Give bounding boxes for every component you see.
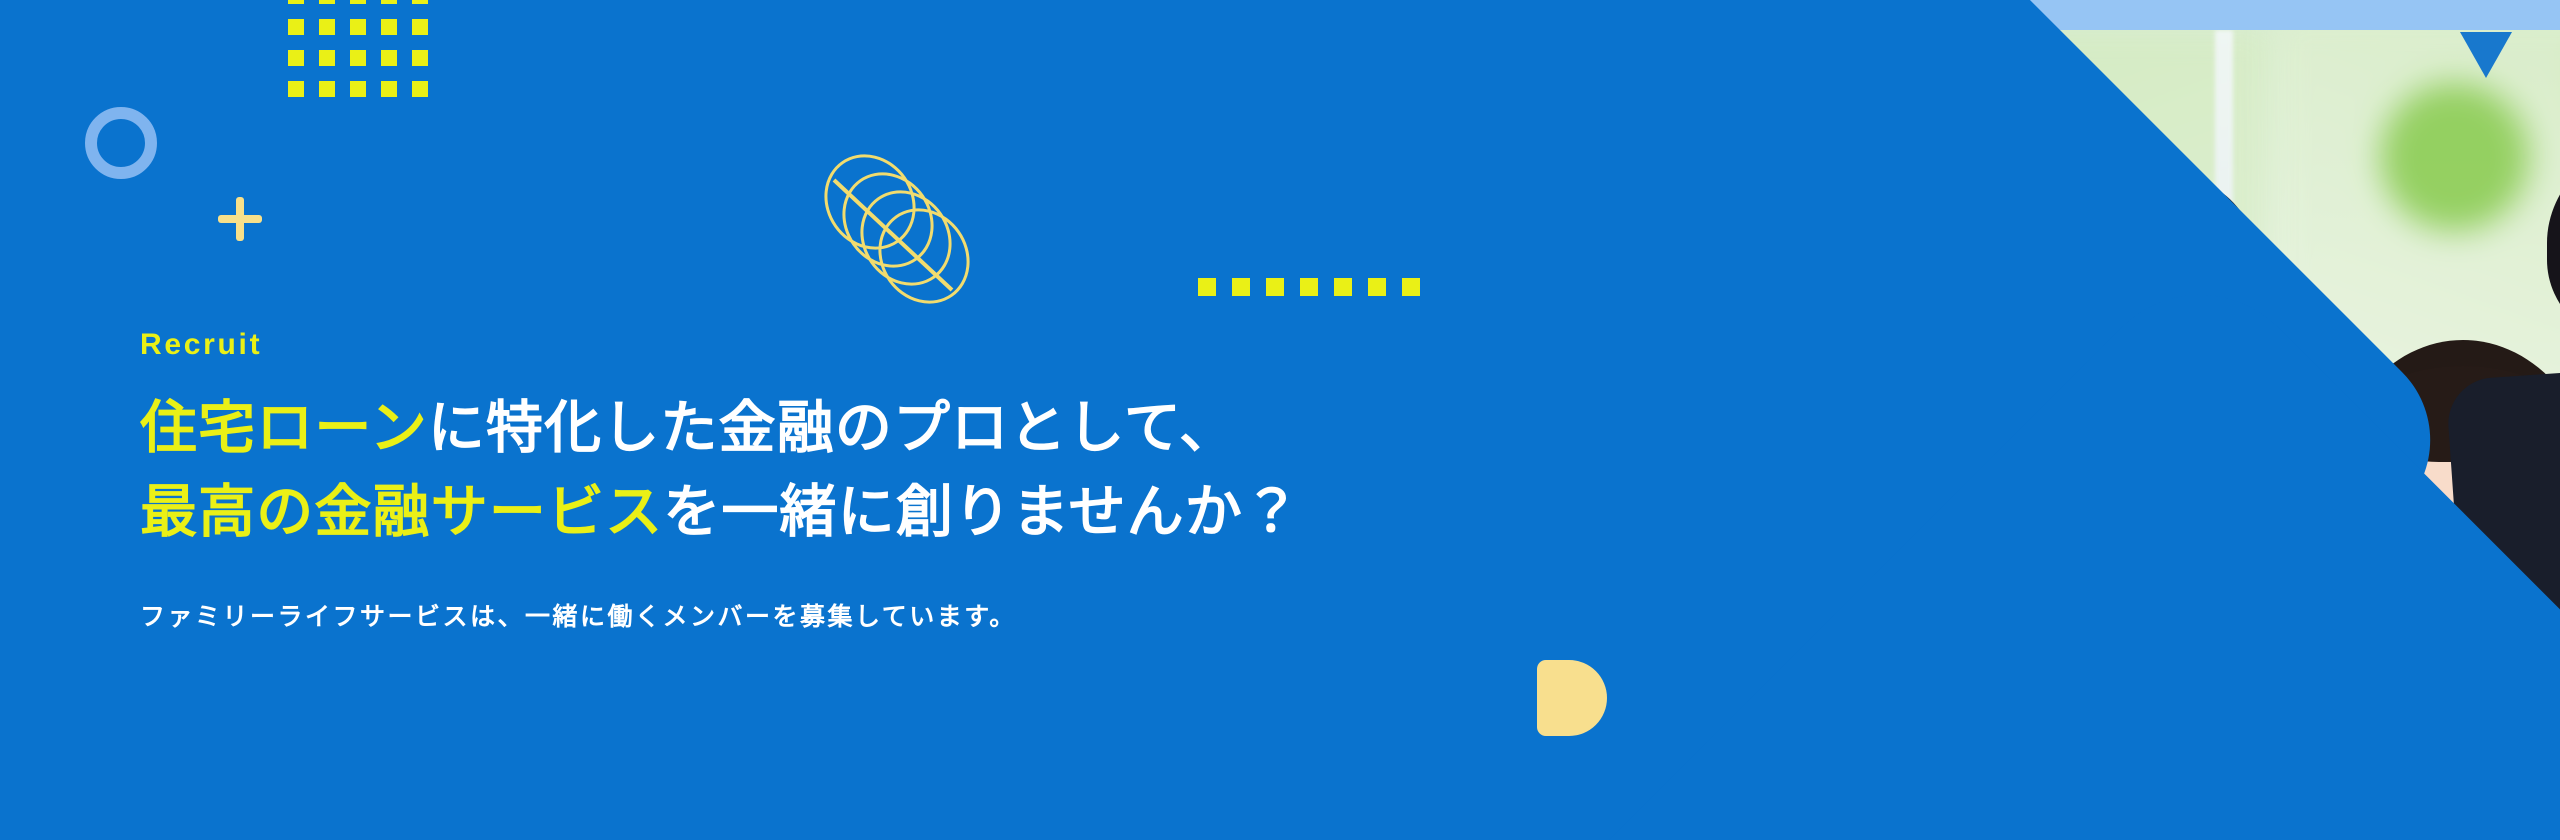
headline-rest-2: を一緒に創りませんか？	[663, 480, 1301, 544]
headline-highlight-1: 住宅ローン	[140, 396, 428, 460]
spiral-rings-icon	[800, 140, 1000, 330]
square-row-icon	[1198, 278, 1420, 296]
headline-line-2: 最高の金融サービスを一緒に創りませんか？	[140, 470, 1340, 554]
hero-copy: Recruit 住宅ローンに特化した金融のプロとして、 最高の金融サービスを一緒…	[140, 330, 1340, 636]
triangle-badge-icon	[2460, 32, 2512, 78]
circle-outline-icon	[85, 107, 157, 179]
lede-text: ファミリーライフサービスは、一緒に働くメンバーを募集しています。	[140, 599, 1340, 637]
headline-highlight-2: 最高の金融サービス	[140, 480, 663, 544]
headline-line-1: 住宅ローンに特化した金融のプロとして、	[140, 386, 1340, 470]
headline-rest-1: に特化した金融のプロとして、	[428, 396, 1237, 460]
recruit-banner: Recruit 住宅ローンに特化した金融のプロとして、 最高の金融サービスを一緒…	[0, 0, 2560, 840]
hero-photo-stage	[1200, 0, 2560, 840]
dot-grid-icon	[288, 0, 428, 97]
eyebrow-label: Recruit	[140, 330, 1340, 360]
plus-mark-icon	[218, 197, 262, 241]
